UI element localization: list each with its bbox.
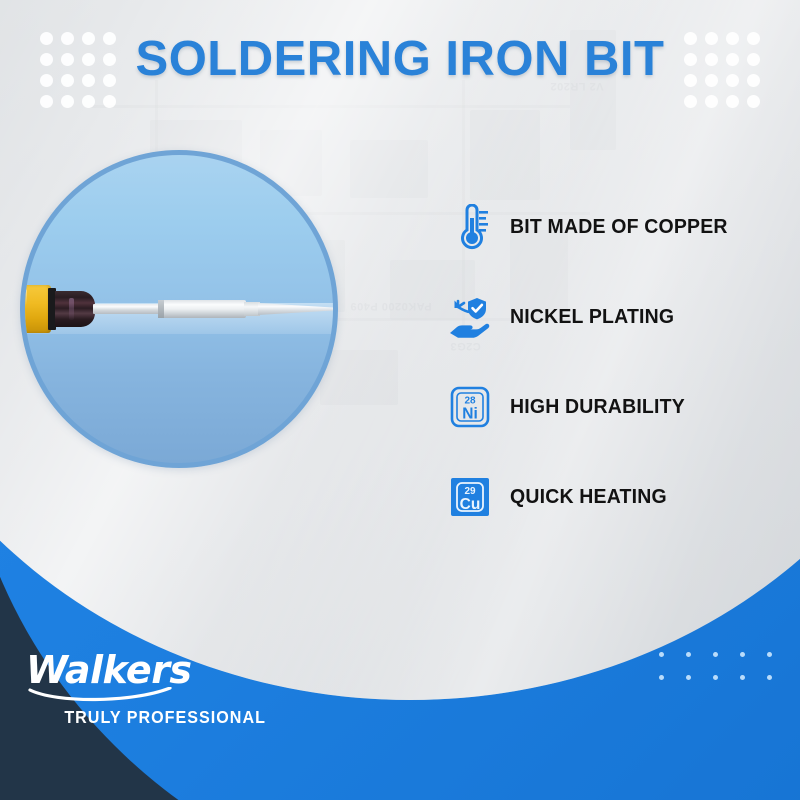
dot-grid-bottom-right: [659, 652, 772, 680]
logo-swoosh: [28, 687, 176, 703]
dot: [684, 53, 697, 66]
dot: [40, 95, 53, 108]
hand-shield-check-icon: [448, 294, 492, 340]
dot: [684, 95, 697, 108]
element-copper-icon: 29 Cu: [448, 474, 492, 520]
brand-name: Walkers: [22, 651, 287, 689]
dot: [659, 652, 664, 657]
feature-label: BIT MADE OF COPPER: [510, 215, 728, 239]
bit-knurled-nut: [55, 291, 95, 327]
dot: [40, 53, 53, 66]
dot: [82, 32, 95, 45]
dot: [61, 74, 74, 87]
bit-barrel: [158, 300, 246, 318]
dot: [767, 675, 772, 680]
feature-list: BIT MADE OF COPPER NICKEL PLATING: [448, 196, 778, 556]
dot: [40, 74, 53, 87]
dot: [767, 652, 772, 657]
dot: [103, 53, 116, 66]
element-nickel-icon: 28 Ni: [448, 384, 492, 430]
dot-grid-right: [684, 32, 760, 108]
dot: [747, 53, 760, 66]
dot: [659, 675, 664, 680]
feature-item: BIT MADE OF COPPER: [448, 196, 778, 258]
dot: [684, 74, 697, 87]
poster-canvas: C250 PAK0200 P409 R2 C252 V2 LR202 C390 …: [0, 0, 800, 800]
dot: [726, 95, 739, 108]
dot: [103, 32, 116, 45]
feature-item: NICKEL PLATING: [448, 286, 778, 348]
feature-label: NICKEL PLATING: [510, 305, 674, 329]
feature-item: 28 Ni HIGH DURABILITY: [448, 376, 778, 438]
dot-grid-left: [40, 32, 116, 108]
dot: [740, 652, 745, 657]
dot: [705, 53, 718, 66]
soldering-iron-bit-illustration: [20, 273, 338, 345]
dot: [686, 652, 691, 657]
dot: [61, 32, 74, 45]
dot: [726, 53, 739, 66]
element-symbol: Ni: [462, 406, 478, 423]
brand-tagline: TRULY PROFESSIONAL: [22, 707, 266, 728]
dot: [740, 675, 745, 680]
dot: [61, 95, 74, 108]
dot: [684, 32, 697, 45]
dot: [726, 32, 739, 45]
page-title: SOLDERING IRON BIT: [136, 31, 665, 87]
bit-tapered-tip: [258, 303, 338, 315]
dot: [686, 675, 691, 680]
dot: [82, 95, 95, 108]
bit-shaft: [93, 304, 160, 314]
feature-label: QUICK HEATING: [510, 485, 667, 509]
dot: [705, 32, 718, 45]
feature-label: HIGH DURABILITY: [510, 395, 685, 419]
dot: [82, 74, 95, 87]
dot: [713, 675, 718, 680]
dot: [747, 74, 760, 87]
dot: [747, 32, 760, 45]
dot: [40, 32, 53, 45]
dot: [705, 95, 718, 108]
dot: [713, 652, 718, 657]
thermometer-icon: [448, 204, 492, 250]
dot: [705, 74, 718, 87]
brand-logo: Walkers TRULY PROFESSIONAL: [22, 651, 287, 728]
header-bar: SOLDERING IRON BIT: [0, 0, 800, 118]
dot: [747, 95, 760, 108]
feature-item: 29 Cu QUICK HEATING: [448, 466, 778, 528]
element-symbol: Cu: [460, 496, 481, 513]
product-image-circle: [20, 150, 338, 468]
dot: [61, 53, 74, 66]
bit-step: [244, 302, 260, 316]
dot: [726, 74, 739, 87]
dot: [82, 53, 95, 66]
bit-plastic-collar: [20, 285, 51, 333]
dot: [103, 74, 116, 87]
dot: [103, 95, 116, 108]
